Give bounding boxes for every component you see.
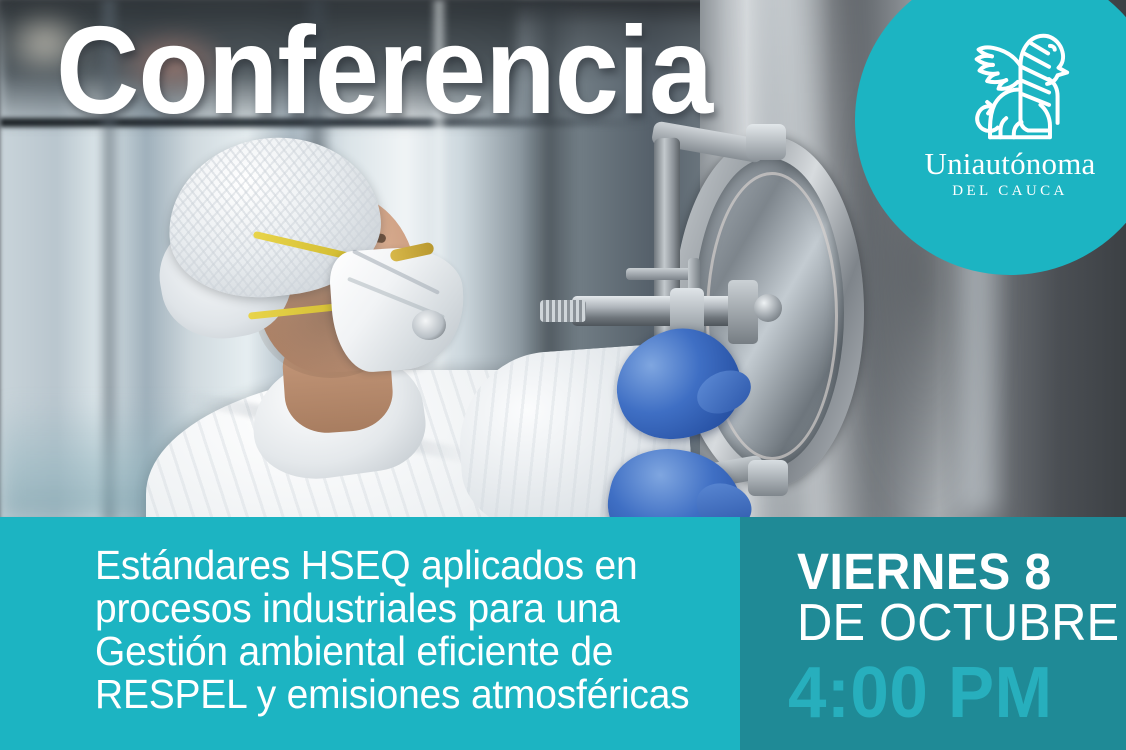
description-text: Estándares HSEQ aplicados en procesos in… — [95, 544, 689, 716]
clamp-bolt — [754, 294, 782, 322]
logo-wordmark: Uniautónoma — [925, 148, 1096, 179]
clamp-spindle-collar — [728, 280, 758, 344]
university-logo-badge: Uniautónoma DEL CAUCA — [855, 0, 1126, 275]
poster-title: Conferencia — [56, 2, 712, 141]
event-date-panel: VIERNES 8 DE OCTUBRE 4:00 PM — [740, 517, 1126, 750]
conference-poster: Conferencia — [0, 0, 1126, 750]
respirator-mask-icon — [328, 244, 468, 375]
clamp-cap-top — [746, 124, 786, 160]
event-month: DE OCTUBRE — [797, 597, 1119, 649]
worker-figure — [60, 120, 700, 520]
description-panel: Estándares HSEQ aplicados en procesos in… — [0, 517, 740, 750]
clamp-cap-bottom — [748, 460, 788, 496]
griffin-icon — [949, 23, 1071, 141]
event-time: 4:00 PM — [788, 657, 1053, 729]
mask-exhalation-valve — [412, 310, 446, 340]
logo-content: Uniautónoma DEL CAUCA — [855, 0, 1126, 275]
event-day: VIERNES 8 — [797, 546, 1052, 597]
logo-subtitle: DEL CAUCA — [952, 184, 1067, 199]
